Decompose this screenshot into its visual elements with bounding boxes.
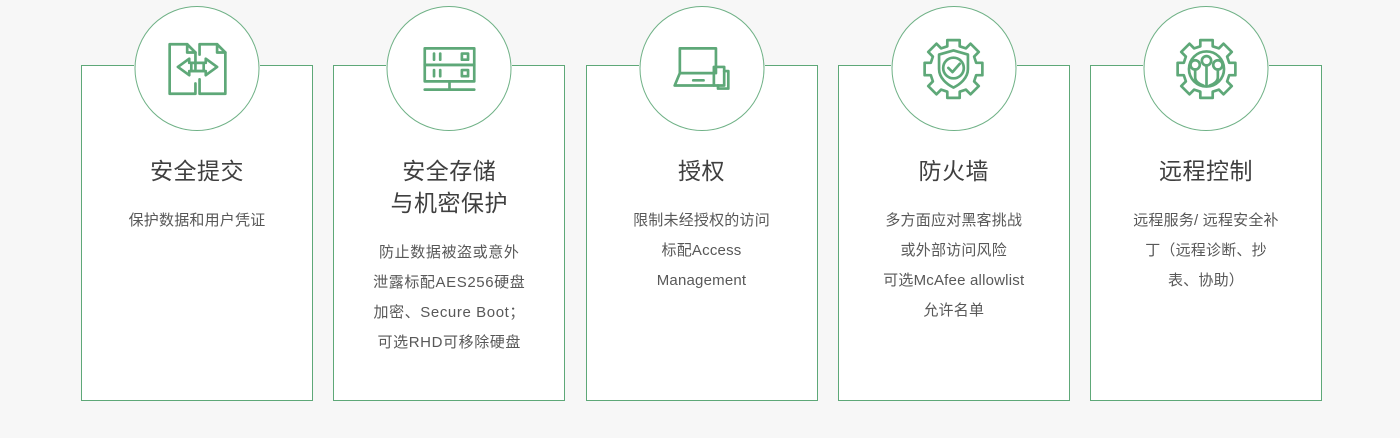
card-title: 授权 <box>678 155 725 187</box>
feature-board: 安全提交 保护数据和用户凭证 安全存储 与机密保护 防止数据被盗或意外 泄露标 <box>0 0 1400 438</box>
card-title: 安全提交 <box>150 155 244 187</box>
laptop-devices-icon <box>639 6 764 131</box>
card-description: 远程服务/ 远程安全补 丁（远程诊断、抄 表、协助） <box>1106 206 1306 296</box>
card-description: 限制未经授权的访问 标配Access Management <box>602 206 802 296</box>
card-title: 安全存储 与机密保护 <box>391 155 509 219</box>
server-rack-icon <box>387 6 512 131</box>
card-description: 防止数据被盗或意外 泄露标配AES256硬盘 加密、Secure Boot； 可… <box>349 238 549 358</box>
card-title: 远程控制 <box>1159 155 1253 187</box>
gear-circuit-nodes-icon <box>1144 6 1269 131</box>
feature-card-secure-storage[interactable]: 安全存储 与机密保护 防止数据被盗或意外 泄露标配AES256硬盘 加密、Sec… <box>333 65 565 401</box>
feature-card-authorization[interactable]: 授权 限制未经授权的访问 标配Access Management <box>586 65 818 401</box>
feature-card-remote-control[interactable]: 远程控制 远程服务/ 远程安全补 丁（远程诊断、抄 表、协助） <box>1090 65 1322 401</box>
feature-cards-row: 安全提交 保护数据和用户凭证 安全存储 与机密保护 防止数据被盗或意外 泄露标 <box>81 65 1322 401</box>
document-transfer-icon <box>135 6 260 131</box>
feature-card-firewall[interactable]: 防火墙 多方面应对黑客挑战 或外部访问风险 可选McAfee allowlist… <box>838 65 1070 401</box>
feature-card-secure-submission[interactable]: 安全提交 保护数据和用户凭证 <box>81 65 313 401</box>
card-description: 保护数据和用户凭证 <box>97 206 297 236</box>
gear-shield-check-icon <box>891 6 1016 131</box>
card-description: 多方面应对黑客挑战 或外部访问风险 可选McAfee allowlist 允许名… <box>854 206 1054 326</box>
card-title: 防火墙 <box>919 155 990 187</box>
